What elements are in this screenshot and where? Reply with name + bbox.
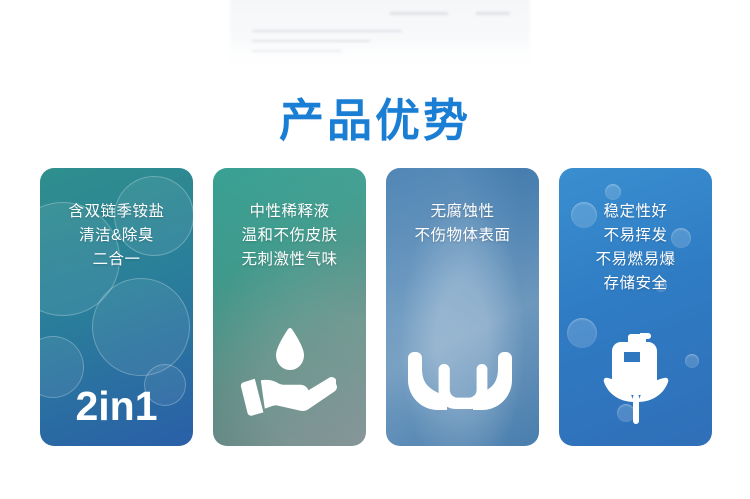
card-2-line-2: 温和不伤皮肤 — [213, 224, 366, 248]
card-2-text: 中性稀释液 温和不伤皮肤 无刺激性气味 — [213, 200, 366, 272]
card-3-text: 无腐蚀性 不伤物体表面 — [386, 200, 539, 248]
card-1-art: 2in1 — [40, 384, 193, 428]
feature-card-1: 含双链季铵盐 清洁&除臭 二合一 2in1 — [40, 168, 193, 446]
feature-card-list: 含双链季铵盐 清洁&除臭 二合一 2in1 中性稀释液 温和不伤皮肤 无刺激性气… — [40, 168, 712, 446]
artifact-fade-overlay — [228, 40, 534, 84]
card-4-line-2: 不易挥发 — [559, 224, 712, 248]
feature-card-4: 稳定性好 不易挥发 不易燃易爆 存储安全 — [559, 168, 712, 446]
page-title: 产品优势 — [0, 84, 750, 149]
feature-card-2: 中性稀释液 温和不伤皮肤 无刺激性气味 — [213, 168, 366, 446]
water-droplet-decoration — [605, 184, 621, 200]
card-3-line-1: 无腐蚀性 — [386, 200, 539, 224]
card-2-art — [213, 324, 366, 428]
card-1-line-1: 含双链季铵盐 — [40, 200, 193, 224]
jerrycan-with-leaves-icon — [584, 332, 688, 428]
card-4-art — [559, 332, 712, 428]
card-1-line-3: 二合一 — [40, 248, 193, 272]
card-1-text: 含双链季铵盐 清洁&除臭 二合一 — [40, 200, 193, 272]
artifact-line — [252, 30, 402, 32]
card-4-line-3: 不易燃易爆 — [559, 248, 712, 272]
artifact-line — [390, 12, 448, 15]
artifact-line — [476, 12, 510, 15]
bubble-decoration — [92, 278, 190, 376]
hand-with-droplet-icon — [236, 324, 344, 428]
two-in-one-text: 2in1 — [40, 384, 193, 428]
card-3-art — [386, 348, 539, 428]
feature-card-3: 无腐蚀性 不伤物体表面 — [386, 168, 539, 446]
card-3-line-2: 不伤物体表面 — [386, 224, 539, 248]
card-2-line-1: 中性稀释液 — [213, 200, 366, 224]
cupped-hands-icon — [404, 348, 522, 428]
card-1-line-2: 清洁&除臭 — [40, 224, 193, 248]
card-4-text: 稳定性好 不易挥发 不易燃易爆 存储安全 — [559, 200, 712, 296]
card-4-line-1: 稳定性好 — [559, 200, 712, 224]
card-2-line-3: 无刺激性气味 — [213, 248, 366, 272]
card-4-line-4: 存储安全 — [559, 272, 712, 296]
